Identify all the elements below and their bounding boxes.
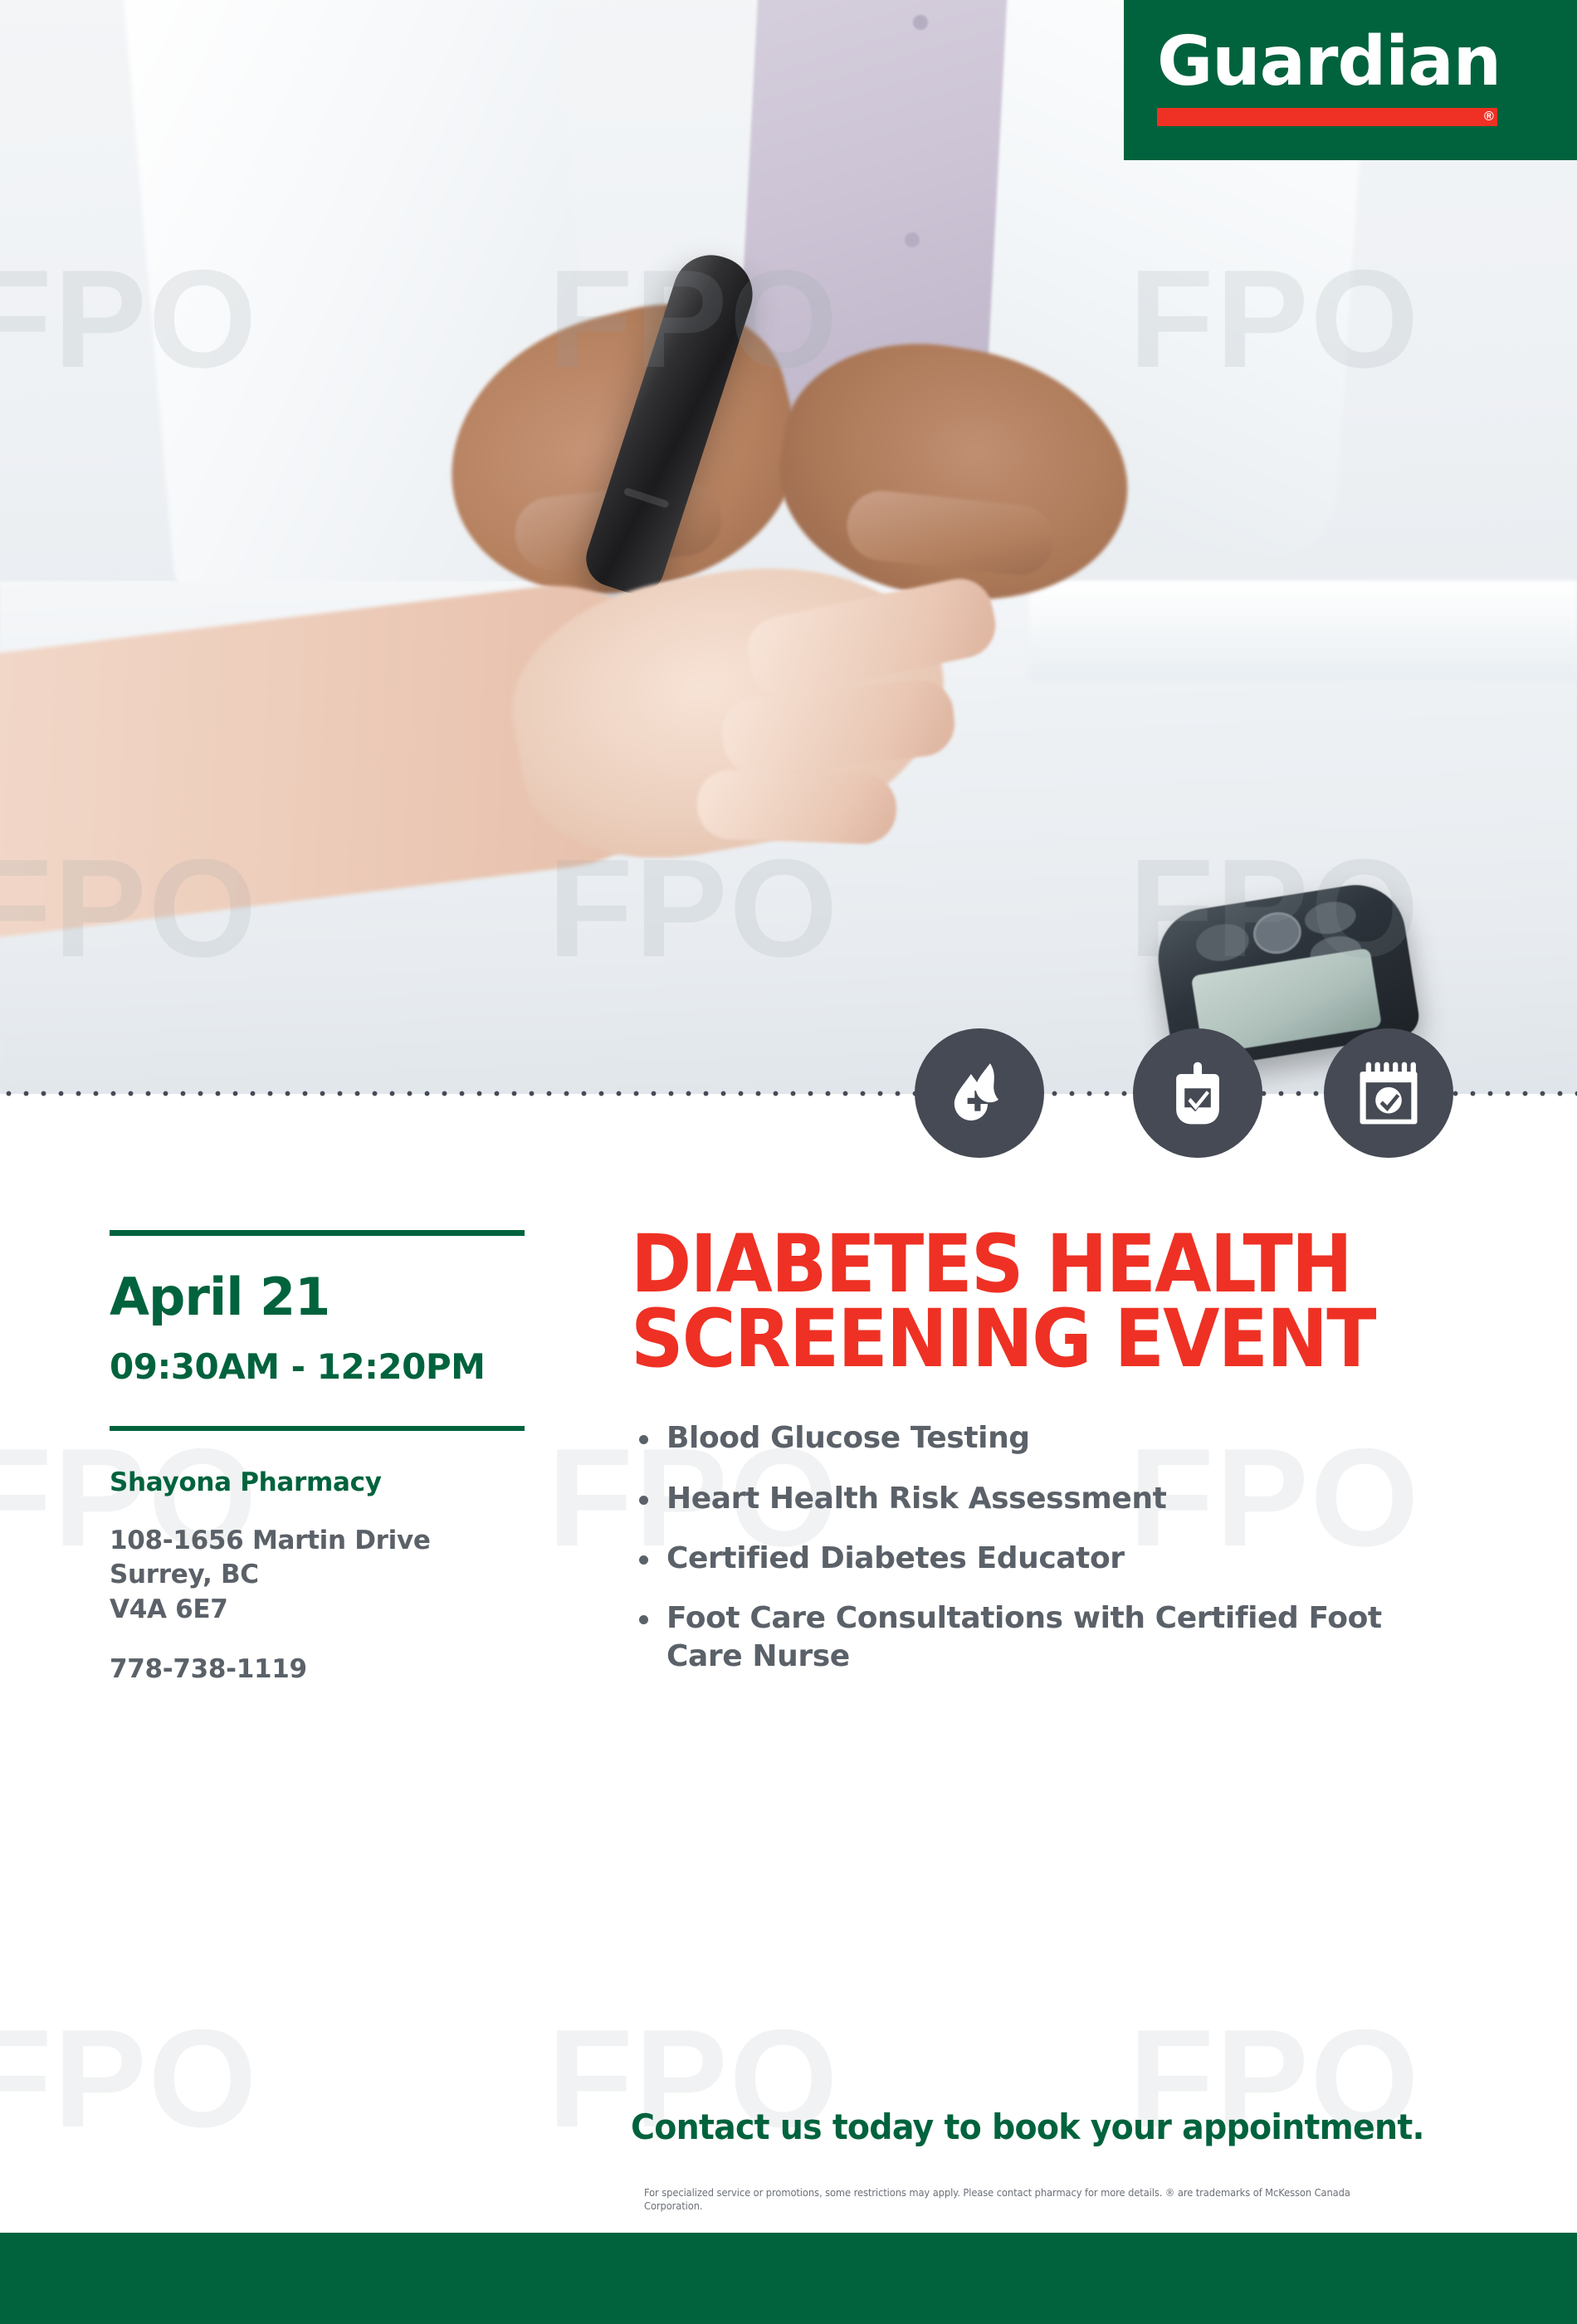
- pharmacy-phone: 778-738-1119: [110, 1653, 541, 1686]
- pharmacy-address: 108-1656 Martin Drive Surrey, BC V4A 6E7: [110, 1524, 541, 1628]
- poster-root: FPO FPO FPO FPO FPO FPO FPO FPO FPO FPO …: [0, 0, 1577, 2324]
- registered-mark: ®: [1484, 109, 1494, 125]
- bullet-dot-icon: [639, 1615, 648, 1624]
- service-label: Foot Care Consultations with Certified F…: [666, 1599, 1413, 1676]
- logo-red-rule: [1157, 108, 1497, 126]
- guardian-logo: Guardian ®: [1124, 0, 1577, 160]
- address-line-3: V4A 6E7: [110, 1593, 541, 1628]
- address-line-1: 108-1656 Martin Drive: [110, 1524, 541, 1559]
- list-item: Certified Diabetes Educator: [631, 1540, 1511, 1578]
- meter-up-button: [1302, 898, 1358, 937]
- meter-ok-button: [1250, 909, 1304, 957]
- bullet-dot-icon: [639, 1555, 648, 1565]
- shirt-button: [905, 232, 920, 247]
- list-item: Heart Health Risk Assessment: [631, 1480, 1511, 1518]
- calendar-check-icon: [1324, 1028, 1453, 1158]
- service-label: Heart Health Risk Assessment: [666, 1480, 1166, 1518]
- hero-photo: [0, 0, 1577, 1094]
- call-to-action: Contact us today to book your appointmen…: [631, 2108, 1489, 2146]
- service-label: Certified Diabetes Educator: [666, 1540, 1125, 1578]
- shirt-button: [913, 15, 928, 30]
- patient-finger: [696, 769, 898, 845]
- footer-bar: [0, 2233, 1577, 2324]
- pharmacy-name: Shayona Pharmacy: [110, 1467, 541, 1498]
- event-details-column: April 21 09:30AM - 12:20PM Shayona Pharm…: [110, 1230, 541, 1686]
- bullet-dot-icon: [639, 1435, 648, 1444]
- address-line-2: Surrey, BC: [110, 1558, 541, 1593]
- blood-drop-plus-icon: [915, 1028, 1044, 1158]
- list-item: Blood Glucose Testing: [631, 1419, 1511, 1457]
- table-edge: [1029, 581, 1577, 681]
- event-date: April 21: [110, 1271, 541, 1323]
- fpo-watermark: FPO: [0, 2009, 258, 2148]
- glucose-meter-check-icon: [1133, 1028, 1262, 1158]
- top-rule: [110, 1230, 525, 1236]
- mid-rule: [110, 1426, 525, 1431]
- page-title: DIABETES HEALTH SCREENING EVENT: [631, 1227, 1440, 1376]
- logo-wordmark: Guardian: [1157, 28, 1501, 96]
- legal-fineprint: For specialized service or promotions, s…: [644, 2186, 1408, 2214]
- bullet-dot-icon: [639, 1496, 648, 1505]
- main-content-column: DIABETES HEALTH SCREENING EVENT Blood Gl…: [631, 1227, 1511, 1697]
- services-list: Blood Glucose Testing Heart Health Risk …: [631, 1419, 1511, 1675]
- meter-side-button: [1194, 920, 1252, 964]
- event-time: 09:30AM - 12:20PM: [110, 1348, 541, 1386]
- service-label: Blood Glucose Testing: [666, 1419, 1030, 1457]
- list-item: Foot Care Consultations with Certified F…: [631, 1599, 1511, 1676]
